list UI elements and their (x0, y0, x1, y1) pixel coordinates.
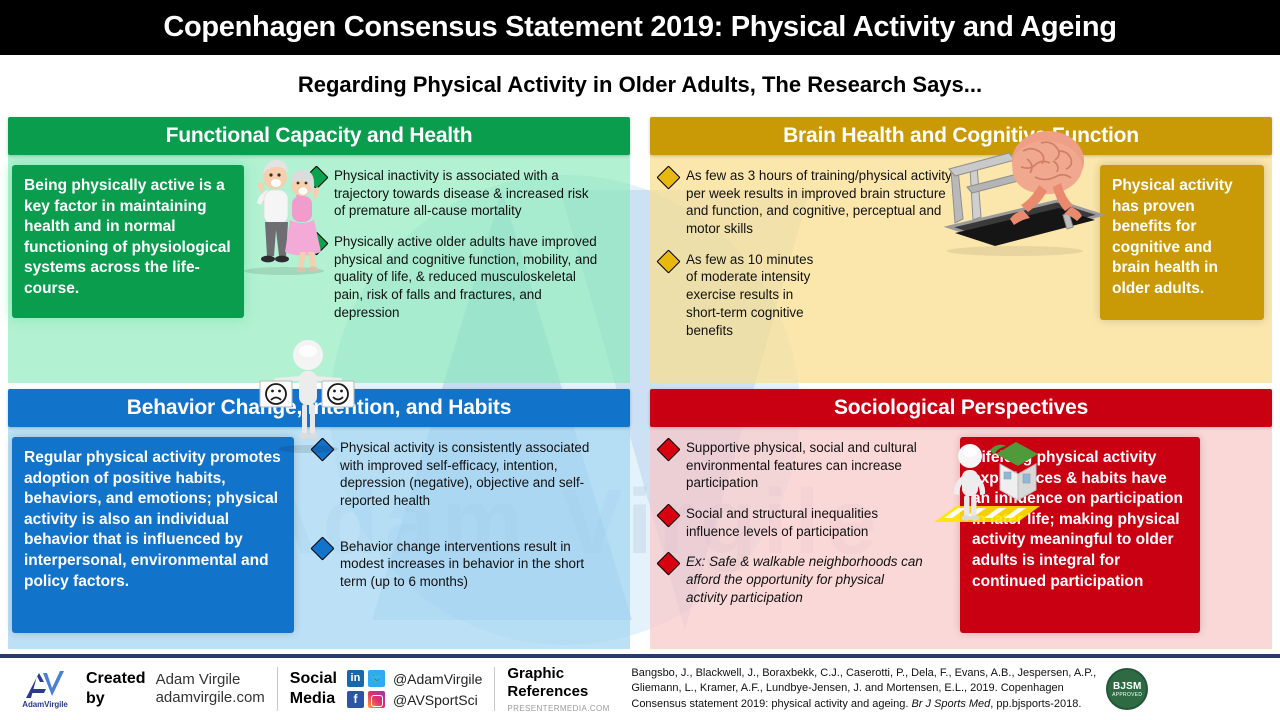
graphic-label-line2: References (507, 683, 619, 701)
facebook-icon[interactable]: f (347, 691, 364, 708)
diamond-bullet-icon (304, 232, 328, 256)
adamvirgile-logo: AdamVirgile (10, 670, 80, 709)
bullet-text: As few as 10 minutes of moderate intensi… (686, 251, 826, 339)
diamond-bullet-icon (656, 165, 680, 189)
reference-line-1: Bangsbo, J., Blackwell, J., Boraxbekk, C… (631, 666, 1096, 682)
infographic-page: Adam Virgile Copenhagen Consensus Statem… (0, 0, 1280, 720)
diamond-bullet-icon (310, 437, 334, 461)
reference-journal: Br J Sports Med (911, 698, 990, 710)
bullet-item: Physical activity is consistently associ… (314, 439, 606, 510)
page-title: Copenhagen Consensus Statement 2019: Phy… (163, 11, 1116, 44)
title-bar: Copenhagen Consensus Statement 2019: Phy… (0, 0, 1280, 55)
badge-sub-text: APPROVED (1112, 692, 1142, 698)
author-name: Adam Virgile (156, 671, 265, 689)
bjsm-approved-badge: BJSM APPROVED (1106, 668, 1148, 710)
bullet-item: Physically active older adults have impr… (308, 233, 600, 321)
badge-main-text: BJSM (1113, 681, 1142, 692)
section-title-behavior-change: Behavior Change, Intention, and Habits (8, 389, 630, 427)
bullet-item: As few as 10 minutes of moderate intensi… (660, 251, 960, 339)
social-row: f @AVSportSci (347, 689, 482, 710)
linkedin-icon[interactable]: in (347, 670, 364, 687)
bullet-item: Behavior change interventions result in … (314, 538, 606, 591)
graphic-source: PRESENTERMEDIA.COM (507, 704, 619, 713)
bullet-list-functional-capacity: Physical inactivity is associated with a… (308, 167, 600, 380)
social-label-line2: Media (290, 689, 337, 709)
bullet-text: As few as 3 hours of training/physical a… (686, 167, 960, 238)
author-website[interactable]: adamvirgile.com (156, 689, 265, 707)
bullet-text: Ex: Safe & walkable neighborhoods can af… (686, 553, 926, 606)
av-monogram-icon (22, 670, 68, 700)
handle-avsportsci[interactable]: @AVSportSci (393, 692, 478, 708)
diamond-bullet-icon (656, 437, 680, 461)
instagram-icon[interactable] (368, 691, 385, 708)
footer-separator-1 (277, 667, 278, 711)
quadrant-sociological-perspectives: Sociological Perspectives Supportive phy… (650, 389, 1272, 649)
section-title-sociological-perspectives: Sociological Perspectives (650, 389, 1272, 427)
diamond-bullet-icon (656, 552, 680, 576)
bullet-list-behavior-change: Physical activity is consistently associ… (314, 439, 606, 652)
section-title-brain-health: Brain Health and Cognitive Function (650, 117, 1272, 155)
section-title-functional-capacity: Functional Capacity and Health (8, 117, 630, 155)
graphic-references-label: Graphic References PRESENTERMEDIA.COM (507, 665, 619, 714)
quadrant-functional-capacity: Functional Capacity and Health Being phy… (8, 117, 630, 383)
footer-separator-2 (494, 667, 495, 711)
logo-wordmark: AdamVirgile (22, 700, 67, 709)
handle-adamvirgile[interactable]: @AdamVirgile (393, 671, 482, 687)
bullet-item: As few as 3 hours of training/physical a… (660, 167, 960, 238)
bullet-list-brain-health: As few as 3 hours of training/physical a… (660, 167, 960, 380)
diamond-bullet-icon (304, 165, 328, 189)
social-row: in 🐦 @AdamVirgile (347, 668, 482, 689)
diamond-bullet-icon (656, 249, 680, 273)
social-media-label: Social Media (290, 669, 337, 710)
created-by-label: Created by (86, 669, 146, 708)
social-label-line1: Social (290, 669, 337, 689)
bullet-item: Supportive physical, social and cultural… (660, 439, 926, 492)
twitter-icon[interactable]: 🐦 (368, 670, 385, 687)
created-label-line2: by (86, 689, 146, 709)
bullet-text: Supportive physical, social and cultural… (686, 439, 926, 492)
created-by-value: Adam Virgile adamvirgile.com (146, 671, 265, 708)
callout-sociological-perspectives: Lifelong physical activity experiences &… (960, 437, 1200, 633)
bullet-text: Physical activity is consistently associ… (340, 439, 606, 510)
subtitle-bar: Regarding Physical Activity in Older Adu… (0, 60, 1280, 110)
bullet-item: Social and structural inequalities influ… (660, 505, 926, 540)
callout-behavior-change: Regular physical activity promotes adopt… (12, 437, 294, 633)
diamond-bullet-icon (310, 536, 334, 560)
callout-brain-health: Physical activity has proven benefits fo… (1100, 165, 1264, 320)
social-handles: in 🐦 @AdamVirgile f @AVSportSci (347, 668, 482, 710)
bullet-text: Behavior change interventions result in … (340, 538, 606, 591)
bullet-item: Physical inactivity is associated with a… (308, 167, 600, 220)
bullet-text: Social and structural inequalities influ… (686, 505, 926, 540)
footer: AdamVirgile Created by Adam Virgile adam… (0, 658, 1280, 720)
diamond-bullet-icon (656, 504, 680, 528)
bullet-item: Ex: Safe & walkable neighborhoods can af… (660, 553, 926, 606)
bullet-text: Physical inactivity is associated with a… (334, 167, 600, 220)
page-subtitle: Regarding Physical Activity in Older Adu… (298, 72, 982, 98)
reference-line-3b: , pp.bjsports-2018. (990, 698, 1081, 710)
quadrant-brain-health: Brain Health and Cognitive Function As f… (650, 117, 1272, 383)
reference-citation: Bangsbo, J., Blackwell, J., Boraxbekk, C… (631, 666, 1096, 713)
quadrant-grid: Functional Capacity and Health Being phy… (0, 113, 1280, 653)
reference-line-2: Gliemann, L., Kramer, A.F., Lundbye-Jens… (631, 681, 1096, 697)
reference-line-3a: Consensus statement 2019: physical activ… (631, 698, 911, 710)
graphic-label-line1: Graphic (507, 665, 619, 683)
quadrant-behavior-change: Behavior Change, Intention, and Habits R… (8, 389, 630, 649)
bullet-list-sociological-perspectives: Supportive physical, social and cultural… (660, 439, 926, 652)
reference-line-3: Consensus statement 2019: physical activ… (631, 697, 1096, 713)
bullet-text: Physically active older adults have impr… (334, 233, 600, 321)
created-label-line1: Created (86, 669, 146, 689)
callout-functional-capacity: Being physically active is a key factor … (12, 165, 244, 318)
